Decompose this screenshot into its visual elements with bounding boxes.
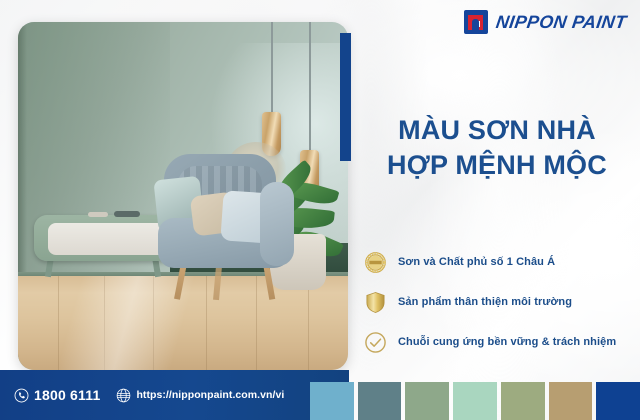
feature-item: Sơn và Chất phủ số 1 Châu Á — [364, 244, 632, 280]
globe-icon — [116, 388, 131, 403]
phone-circle-icon — [14, 388, 29, 403]
headline-line-2: HỢP MỆNH MỘC — [366, 148, 628, 183]
check-circle-icon — [364, 331, 387, 354]
phone-number: 1800 6111 — [34, 387, 100, 403]
color-swatch-row — [310, 382, 640, 420]
phone-contact[interactable]: 1800 6111 — [14, 387, 100, 403]
website-link[interactable]: https://nipponpaint.com.vn/vi — [116, 388, 284, 403]
feature-item: Chuỗi cung ứng bền vững & trách nhiệm — [364, 324, 632, 360]
footer-contact-bar: 1800 6111 https://nipponpaint.com.vn/vi — [0, 370, 349, 420]
swatch-slate-teal[interactable] — [358, 382, 402, 420]
shield-icon — [364, 291, 387, 314]
feature-label: Sản phẩm thân thiện môi trường — [398, 296, 572, 308]
pendant-cord-left — [271, 22, 273, 112]
website-url: https://nipponpaint.com.vn/vi — [136, 389, 284, 401]
headline-line-1: MÀU SƠN NHÀ — [366, 113, 628, 148]
brand-name: NIPPON PAINT — [494, 12, 627, 33]
feature-label: Chuỗi cung ứng bền vững & trách nhiệm — [398, 336, 616, 348]
brand-logo[interactable]: NIPPON PAINT — [464, 10, 626, 34]
armchair — [158, 150, 294, 300]
sideboard-decor-objects — [88, 211, 148, 217]
feature-label: Sơn và Chất phủ số 1 Châu Á — [398, 256, 555, 268]
nippon-paint-logo-icon — [464, 10, 488, 34]
award-seal-icon — [364, 251, 387, 274]
swatch-sky-blue[interactable] — [310, 382, 354, 420]
swatch-sage-green[interactable] — [405, 382, 449, 420]
feature-list: Sơn và Chất phủ số 1 Châu Á Sản phẩm thâ… — [364, 244, 632, 360]
blue-accent-bar — [340, 33, 351, 161]
swatch-mint-green[interactable] — [453, 382, 497, 420]
pendant-cord-right — [309, 22, 311, 150]
living-room-interior-photo — [18, 22, 348, 370]
page-title: MÀU SƠN NHÀ HỢP MỆNH MỘC — [366, 113, 628, 182]
swatch-nippon-blue[interactable] — [596, 382, 640, 420]
feature-item: Sản phẩm thân thiện môi trường — [364, 284, 632, 320]
nippon-paint-promo-banner: NIPPON PAINT MÀU SƠN NHÀ HỢP MỆNH MỘC Sơ… — [0, 0, 640, 420]
swatch-olive-green[interactable] — [501, 382, 545, 420]
swatch-tan-gold[interactable] — [549, 382, 593, 420]
